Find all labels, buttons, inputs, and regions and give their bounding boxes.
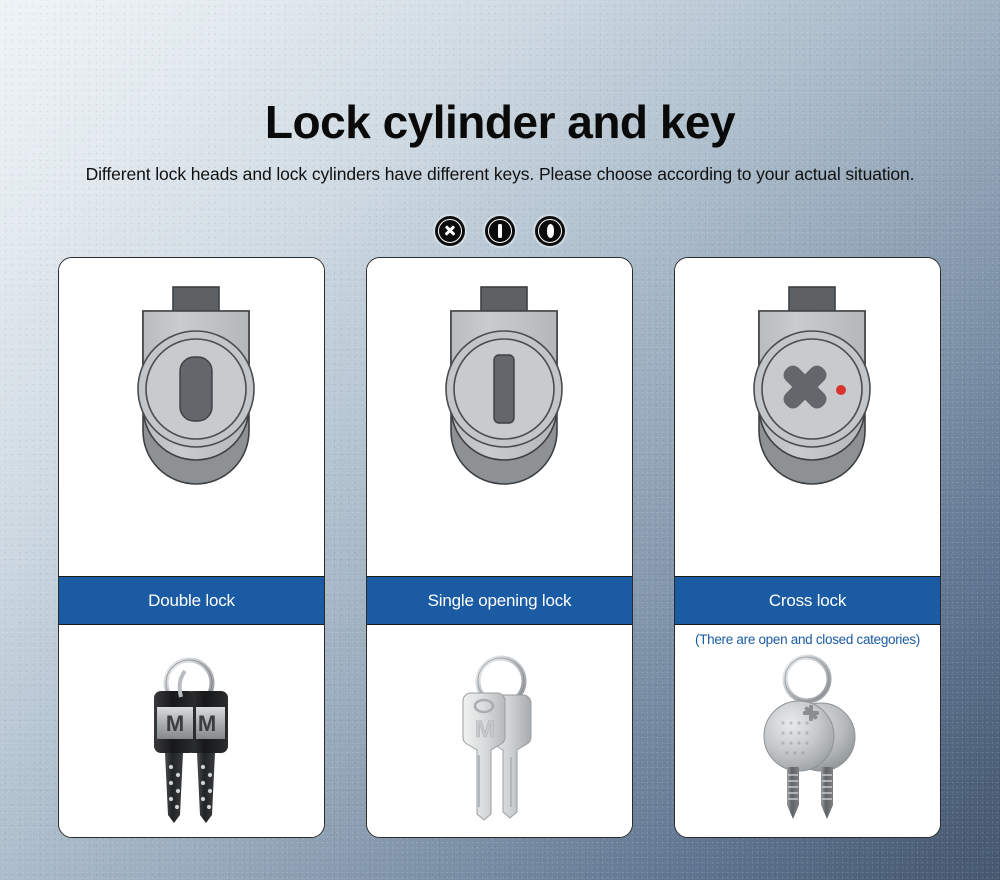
svg-text:M: M bbox=[475, 716, 495, 743]
svg-text:M: M bbox=[197, 711, 215, 736]
header: Lock cylinder and key Different lock hea… bbox=[0, 0, 1000, 185]
key-photo-cross-lock bbox=[743, 651, 873, 831]
cross-lock-cylinder bbox=[675, 258, 940, 576]
double-lock-cylinder bbox=[59, 258, 324, 576]
cylinder-drawing bbox=[405, 277, 595, 557]
lock-card-label: Single opening lock bbox=[367, 576, 632, 625]
double-lock-key-pair: M M bbox=[59, 651, 324, 837]
lock-card-double-lock[interactable]: Double lock bbox=[58, 257, 325, 838]
oval-keyhole-icon bbox=[535, 216, 565, 246]
lock-card-label: Cross lock bbox=[675, 576, 940, 625]
page-title: Lock cylinder and key bbox=[0, 0, 1000, 146]
oval-glyph bbox=[535, 216, 565, 246]
single-opening-lock-cylinder bbox=[367, 258, 632, 576]
cross-keyhole-icon bbox=[435, 216, 465, 246]
page-root: Lock cylinder and key Different lock hea… bbox=[0, 0, 1000, 880]
single-opening-lock-key-pair: M bbox=[367, 651, 632, 837]
lock-type-card-list: Double lock bbox=[58, 257, 942, 838]
cross-lock-key-pair bbox=[675, 651, 940, 837]
key-photo-single-opening-lock: M bbox=[435, 651, 565, 831]
lock-card-cross-lock[interactable]: Cross lock (There are open and closed ca… bbox=[674, 257, 941, 838]
red-indicator-dot bbox=[836, 385, 846, 395]
cross-glyph bbox=[435, 216, 465, 246]
key-photo-double-lock: M M bbox=[127, 651, 257, 831]
cylinder-drawing bbox=[97, 277, 287, 557]
lock-card-single-opening-lock[interactable]: Single opening lock bbox=[366, 257, 633, 838]
lock-card-note: (There are open and closed categories) bbox=[675, 625, 940, 651]
lock-card-label: Double lock bbox=[59, 576, 324, 625]
page-subtitle: Different lock heads and lock cylinders … bbox=[0, 146, 1000, 185]
cylinder-drawing bbox=[713, 277, 903, 557]
slot-glyph bbox=[485, 216, 515, 246]
svg-text:M: M bbox=[165, 711, 183, 736]
keyhole-icon-strip bbox=[0, 216, 1000, 246]
slot-keyhole-icon bbox=[485, 216, 515, 246]
